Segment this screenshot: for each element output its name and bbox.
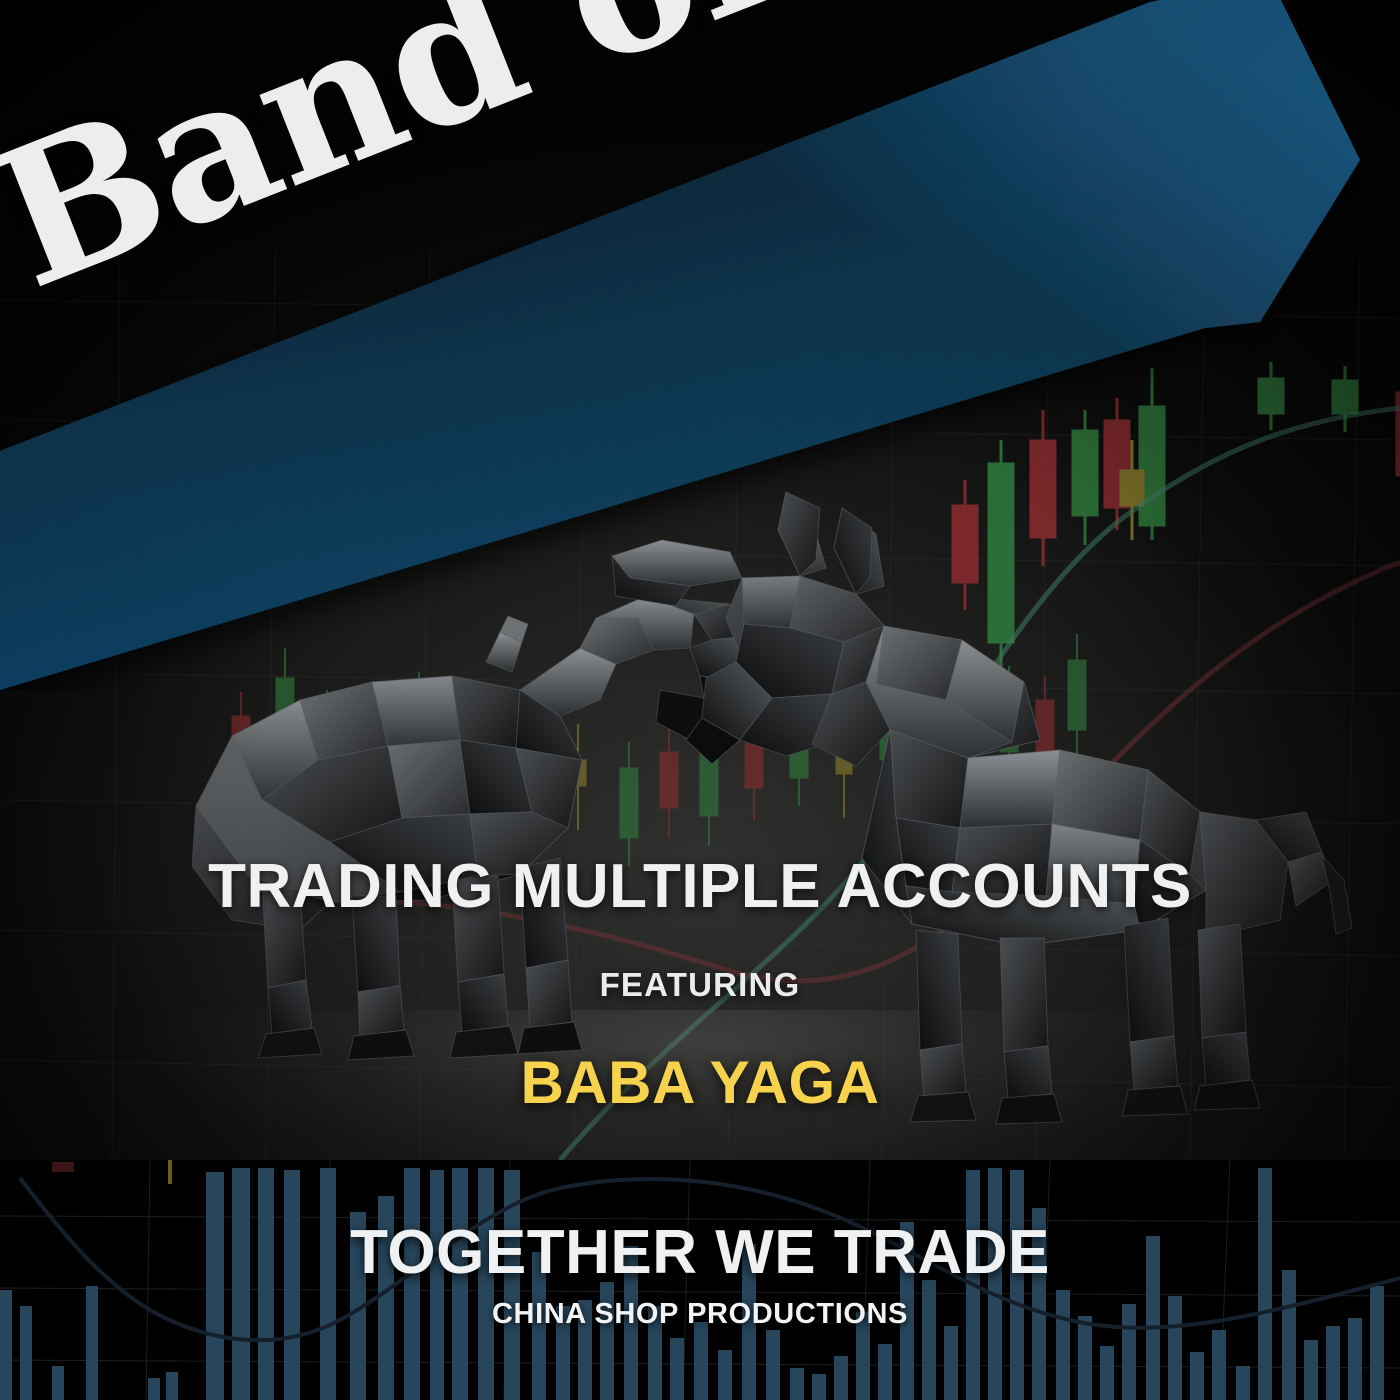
featuring-label: FEATURING bbox=[0, 966, 1400, 1004]
footer-copy-block: TOGETHER WE TRADE CHINA SHOP PRODUCTIONS bbox=[0, 1222, 1400, 1331]
stray-wick-marker bbox=[168, 1160, 172, 1184]
producer-credit: CHINA SHOP PRODUCTIONS bbox=[0, 1298, 1400, 1331]
center-copy-block: TRADING MULTIPLE ACCOUNTS FEATURING BABA… bbox=[0, 856, 1400, 1117]
tagline-text: TOGETHER WE TRADE bbox=[0, 1222, 1400, 1284]
stray-candle-marker bbox=[52, 1162, 74, 1172]
headline-text: TRADING MULTIPLE ACCOUNTS bbox=[0, 856, 1400, 918]
guest-name: BABA YAGA bbox=[0, 1048, 1400, 1117]
poster-root: Band of Traders TRADING MULTIPLE ACCOUNT… bbox=[0, 0, 1400, 1400]
